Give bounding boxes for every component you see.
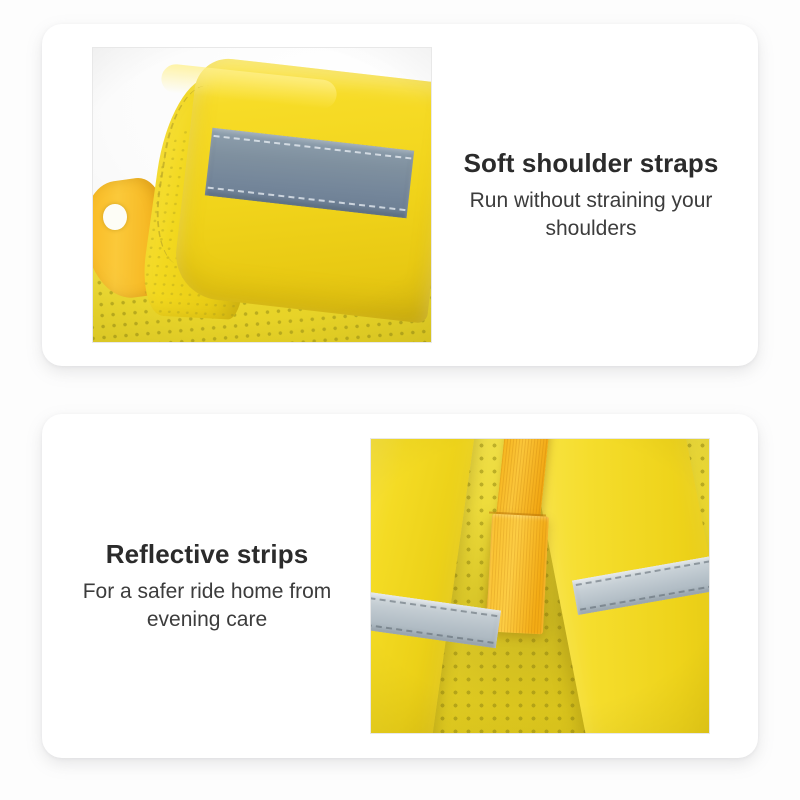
buckle-hole xyxy=(103,204,127,230)
feature-description: Run without straining your shoulders xyxy=(450,187,732,242)
feature-title: Reflective strips xyxy=(62,539,352,569)
feature-card-reflective-strips: Reflective strips For a safer ride home … xyxy=(42,414,758,758)
feature-photo-shoulder-strap xyxy=(92,47,432,343)
feature-photo-reflective-strips xyxy=(370,438,710,734)
feature-title: Soft shoulder straps xyxy=(450,148,732,178)
product-feature-page: Soft shoulder straps Run without straini… xyxy=(0,0,800,800)
feature-text-block-2: Reflective strips For a safer ride home … xyxy=(42,539,370,634)
feature-card-soft-shoulder-straps: Soft shoulder straps Run without straini… xyxy=(42,24,758,366)
feature-text-block-1: Soft shoulder straps Run without straini… xyxy=(432,148,758,243)
feature-description: For a safer ride home from evening care xyxy=(62,578,352,633)
